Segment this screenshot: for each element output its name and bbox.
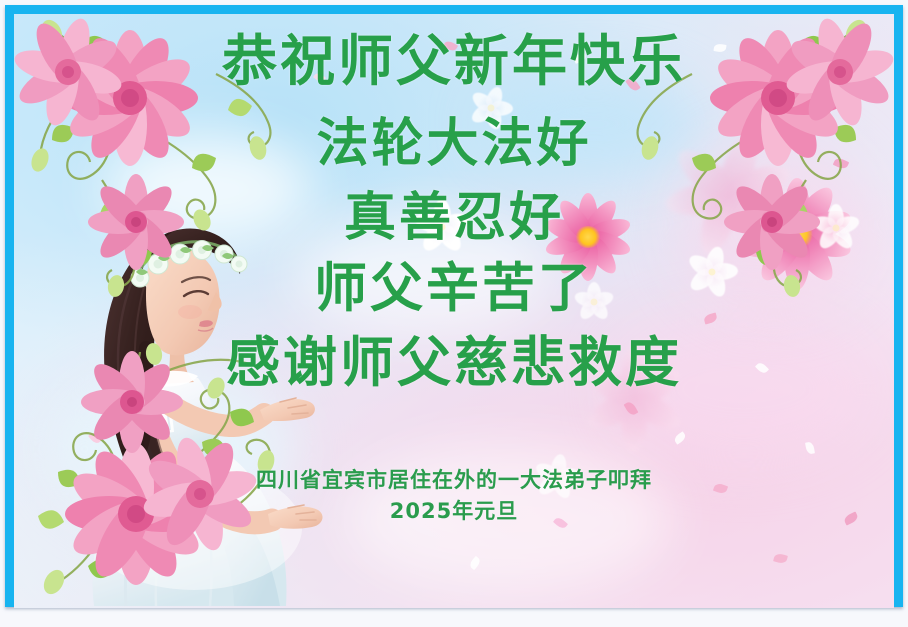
greeting-line-5: 感谢师父慈悲救度 <box>0 336 908 390</box>
falling-petal <box>773 552 788 564</box>
greeting-line-1: 恭祝师父新年快乐 <box>0 34 908 89</box>
signature-sender: 四川省宜宾市居住在外的一大法弟子叩拜 <box>0 464 908 494</box>
greeting-line-2: 法轮大法好 <box>0 118 908 170</box>
greeting-line-4: 师父辛苦了 <box>0 262 908 315</box>
signature-date: 2025年元旦 <box>0 495 908 525</box>
greeting-card: 恭祝师父新年快乐 法轮大法好 真善忍好 师父辛苦了 感谢师父慈悲救度 四川省宜宾… <box>0 0 908 627</box>
greeting-line-3: 真善忍好 <box>0 192 908 244</box>
